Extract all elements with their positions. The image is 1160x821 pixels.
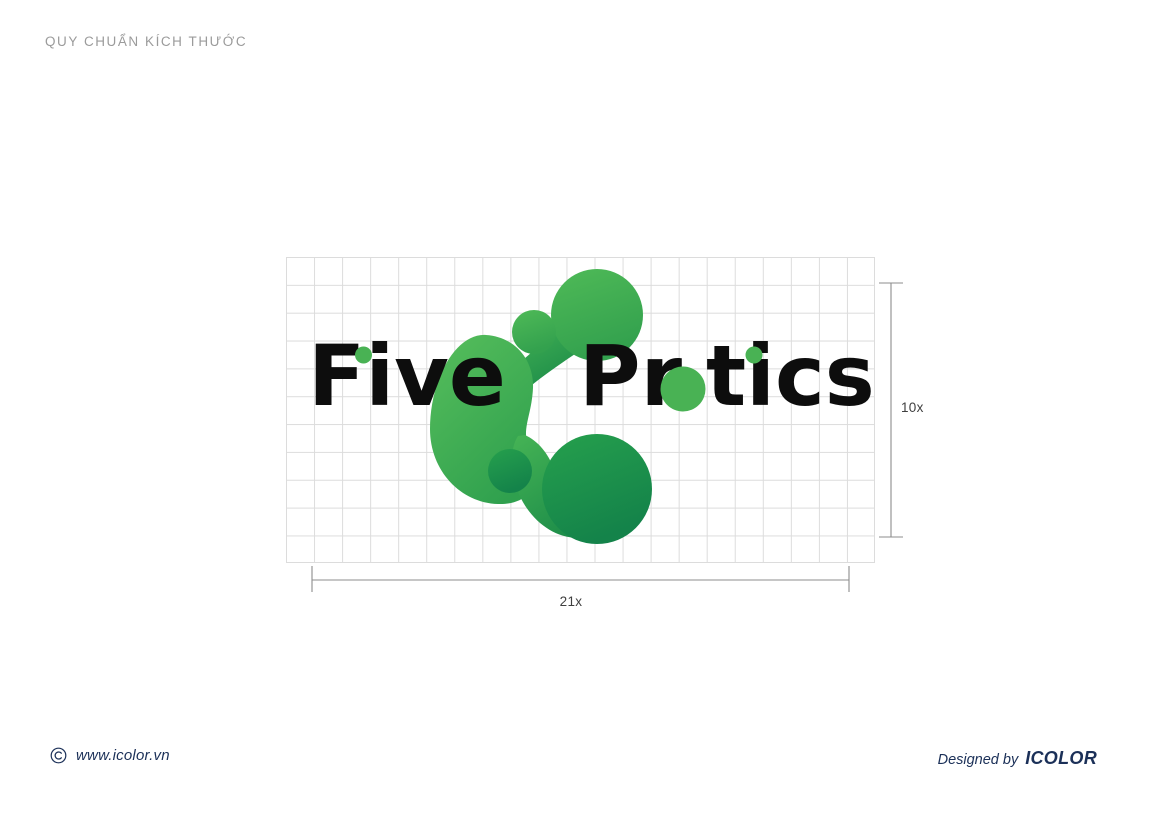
dimension-horizontal	[312, 566, 849, 592]
dimension-vertical-label: 10x	[901, 400, 924, 415]
dimension-horizontal-label-wrap: 21x	[0, 594, 1160, 609]
wordmark-protics-suffix: tics	[706, 327, 875, 425]
i-dot-protics-icon	[746, 347, 763, 364]
logo-svg: Five Pr tics	[286, 257, 875, 563]
molecule-node-bottom	[542, 434, 652, 544]
footer-right: Designed by ICOLOR	[938, 748, 1097, 769]
molecule-node-small-lower	[488, 449, 532, 493]
brand-name: ICOLOR	[1025, 748, 1097, 769]
logo-artwork: Five Pr tics	[286, 257, 875, 563]
wordmark-five: Five	[308, 327, 506, 425]
designed-by-label: Designed by	[938, 752, 1019, 768]
o-circle-icon	[661, 367, 706, 412]
page-title: QUY CHUẨN KÍCH THƯỚC	[45, 34, 247, 49]
footer-left: www.icolor.vn	[50, 747, 170, 764]
molecule-node-small-upper	[512, 310, 556, 354]
logo-artboard: Five Pr tics	[286, 257, 875, 563]
dimension-vertical	[879, 283, 903, 537]
guideline-page: QUY CHUẨN KÍCH THƯỚC	[0, 0, 1160, 821]
copyright-icon	[50, 747, 67, 764]
site-url[interactable]: www.icolor.vn	[76, 747, 170, 764]
i-dot-five-icon	[355, 347, 372, 364]
dimension-horizontal-label: 21x	[560, 594, 583, 609]
